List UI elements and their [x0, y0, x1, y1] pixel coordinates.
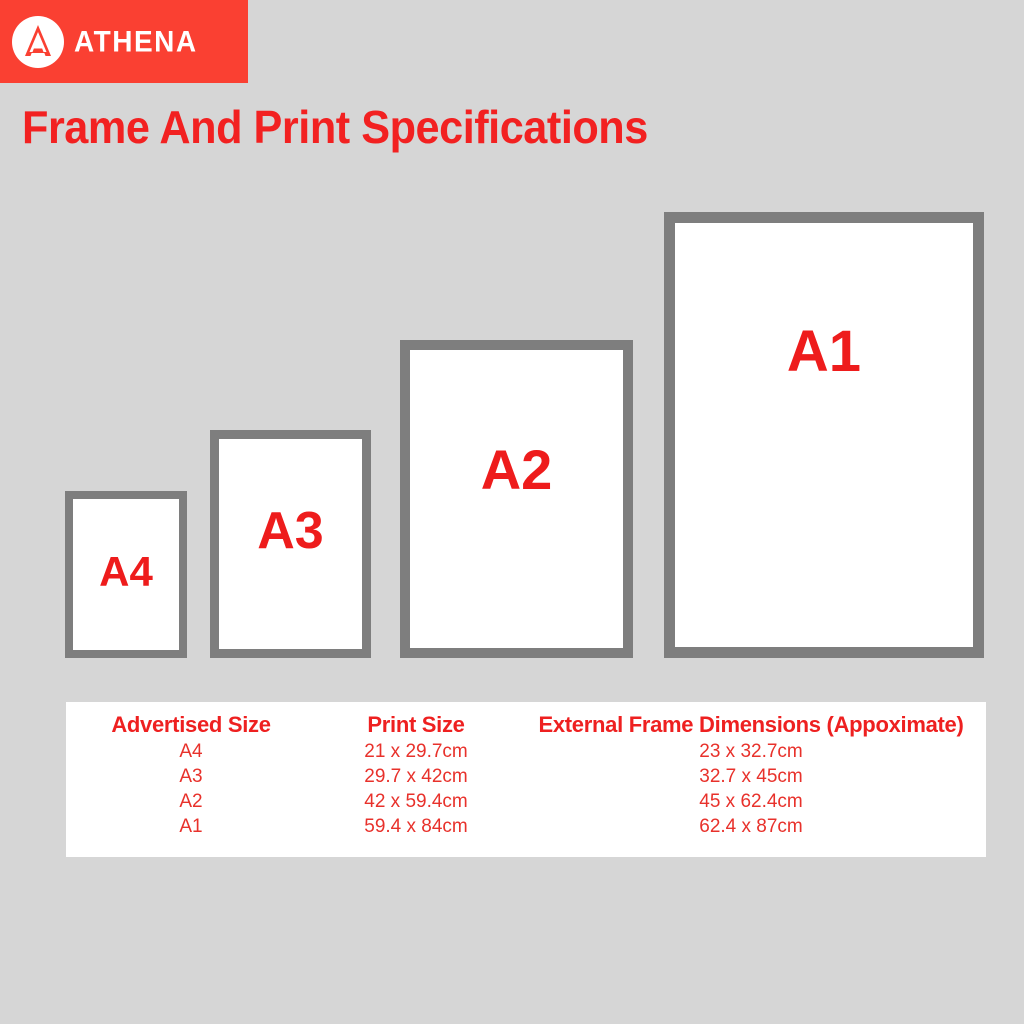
brand-wordmark: ATHENA	[74, 27, 198, 56]
frame-a2[interactable]: A2	[400, 340, 633, 658]
cell-external-frame: 23 x 32.7cm	[516, 741, 986, 763]
frame-a3[interactable]: A3	[210, 430, 371, 658]
frame-a1[interactable]: A1	[664, 212, 984, 658]
cell-external-frame: 45 x 62.4cm	[516, 791, 986, 813]
cell-print-size: 21 x 29.7cm	[316, 741, 516, 763]
frame-a4[interactable]: A4	[65, 491, 187, 658]
table-row: A1 59.4 x 84cm 62.4 x 87cm	[66, 813, 986, 838]
cell-print-size: 29.7 x 42cm	[316, 766, 516, 788]
cell-external-frame: 32.7 x 45cm	[516, 766, 986, 788]
cell-external-frame: 62.4 x 87cm	[516, 816, 986, 838]
frame-a2-label: A2	[481, 442, 553, 648]
cell-advertised-size: A1	[66, 816, 316, 838]
cell-advertised-size: A3	[66, 766, 316, 788]
table-row: A4 21 x 29.7cm 23 x 32.7cm	[66, 738, 986, 763]
frame-a3-label: A3	[257, 505, 323, 649]
cell-print-size: 42 x 59.4cm	[316, 791, 516, 813]
page-title: Frame And Print Specifications	[22, 100, 648, 154]
cell-advertised-size: A2	[66, 791, 316, 813]
table-header-row: Advertised Size Print Size External Fram…	[66, 702, 986, 738]
column-header-print-size: Print Size	[316, 712, 516, 738]
table-row: A2 42 x 59.4cm 45 x 62.4cm	[66, 788, 986, 813]
column-header-advertised-size: Advertised Size	[66, 712, 316, 738]
frame-a4-label: A4	[99, 551, 153, 650]
brand-header-bar: ATHENA	[0, 0, 248, 83]
table-row: A3 29.7 x 42cm 32.7 x 45cm	[66, 763, 986, 788]
cell-advertised-size: A4	[66, 741, 316, 763]
frame-a1-label: A1	[787, 323, 861, 647]
column-header-external-frame-dimensions: External Frame Dimensions (Appoximate)	[516, 712, 986, 738]
cell-print-size: 59.4 x 84cm	[316, 816, 516, 838]
spec-table: Advertised Size Print Size External Fram…	[66, 702, 986, 857]
athena-a-circle-logo	[10, 14, 66, 70]
